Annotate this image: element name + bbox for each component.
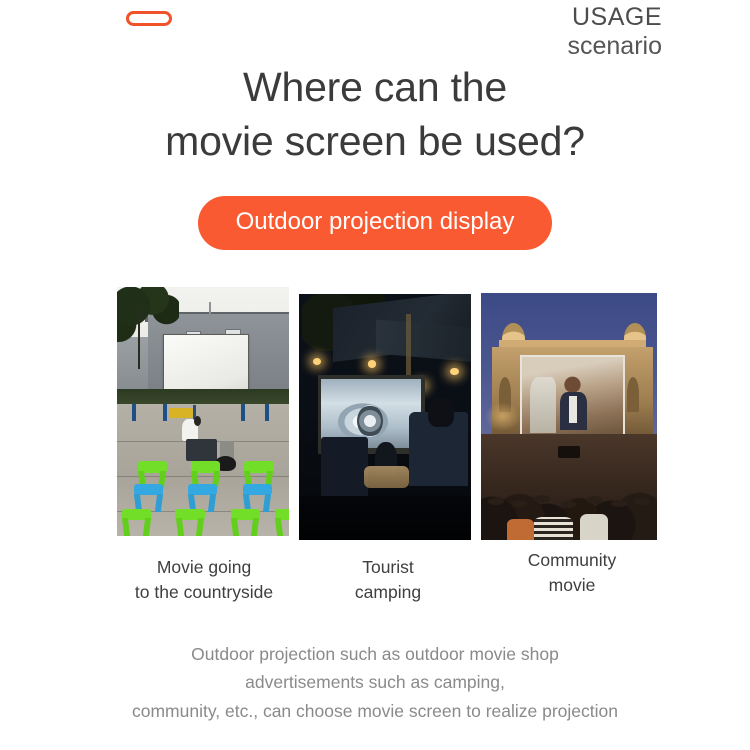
caption-line-2: camping <box>303 580 473 605</box>
street-light <box>368 360 377 367</box>
projected-figure <box>530 377 556 433</box>
audience-member <box>580 514 608 539</box>
caption-line-2: movie <box>469 573 675 598</box>
plastic-stool <box>122 509 151 536</box>
page-title-line-1: Where can the <box>0 60 750 114</box>
pill-outline-icon <box>126 11 172 26</box>
audience-member-striped-shirt <box>534 517 573 540</box>
outdoor-countryside-screening-photo[interactable] <box>117 287 289 536</box>
footnote-line-3: community, etc., can choose movie screen… <box>0 697 750 725</box>
outdoor-projection-display-button[interactable]: Outdoor projection display <box>198 196 553 250</box>
cta-container: Outdoor projection display <box>0 196 750 250</box>
audience-head <box>488 498 504 505</box>
building-arch <box>627 377 639 412</box>
projector-equipment-case <box>186 439 217 461</box>
street-light <box>450 368 459 375</box>
photo-2-scene <box>299 294 471 540</box>
audience-head <box>587 496 603 503</box>
blanket <box>364 466 409 488</box>
page-title: Where can the movie screen be used? <box>0 60 750 168</box>
caption-line-1: Community <box>469 548 675 573</box>
playground-frame <box>241 404 245 421</box>
grass-ground <box>299 496 471 540</box>
projected-car-wheel <box>357 405 383 437</box>
plastic-stool <box>134 484 163 511</box>
eyebrow-line-1: USAGE <box>568 3 663 32</box>
page-header: USAGE scenario <box>0 0 750 62</box>
footnote-paragraph: Outdoor projection such as outdoor movie… <box>0 640 750 725</box>
plastic-stool <box>231 509 260 536</box>
playground-frame <box>163 404 167 421</box>
projector-unit <box>558 446 579 458</box>
photo-3-scene <box>481 293 657 540</box>
audience-head <box>611 500 627 507</box>
caption-tourist-camping: Tourist camping <box>303 555 473 605</box>
plastic-stool <box>243 484 272 511</box>
audience-head <box>511 500 527 507</box>
eyebrow-heading: USAGE scenario <box>568 3 663 61</box>
eyebrow-line-2: scenario <box>568 32 663 61</box>
playground-frame <box>265 404 269 421</box>
projection-screen <box>163 334 249 396</box>
side-wall <box>117 337 151 392</box>
seated-person <box>428 397 454 427</box>
caption-community-movie: Community movie <box>469 548 675 598</box>
gallery-photo-strip <box>117 287 657 540</box>
caption-countryside: Movie going to the countryside <box>99 555 309 605</box>
projection-screen <box>520 355 626 437</box>
yellow-equipment <box>169 408 193 418</box>
community-outdoor-movie-photo[interactable] <box>481 293 657 540</box>
night-camping-projection-photo[interactable] <box>299 294 471 540</box>
plastic-stool <box>175 509 204 536</box>
photo-1-scene <box>117 287 289 536</box>
projected-movie-frame <box>522 357 624 435</box>
gallery-captions: Movie going to the countryside Tourist c… <box>117 548 657 608</box>
tree-trunk <box>138 307 141 369</box>
caption-line-1: Movie going <box>99 555 309 580</box>
projected-shirt <box>569 396 576 424</box>
footnote-line-1: Outdoor projection such as outdoor movie… <box>0 640 750 668</box>
page-title-line-2: movie screen be used? <box>0 114 750 168</box>
facade-lighting-glow <box>485 402 520 432</box>
audience-head <box>560 501 576 508</box>
footnote-line-2: advertisements such as camping, <box>0 668 750 696</box>
usage-scenario-page: USAGE scenario Where can the movie scree… <box>0 0 750 750</box>
plastic-stool <box>275 509 289 536</box>
audience-head <box>634 498 650 505</box>
plastic-stool <box>188 484 217 511</box>
playground-frame <box>132 404 136 421</box>
audience-member <box>507 519 533 540</box>
caption-line-1: Tourist <box>303 555 473 580</box>
caption-line-2: to the countryside <box>99 580 309 605</box>
audience-head <box>534 495 550 502</box>
